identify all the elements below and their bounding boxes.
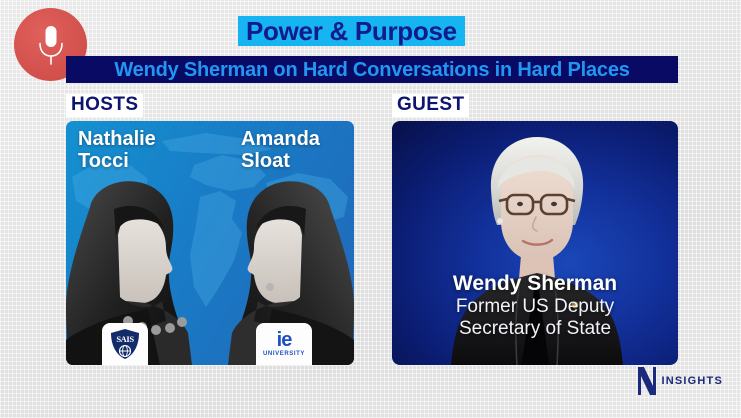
host-name-amanda-sloat: Amanda Sloat [241,129,320,172]
hosts-section-label: HOSTS [66,94,143,117]
ie-logo-subtext: UNIVERSITY [263,351,305,357]
insights-mark-icon [636,366,658,396]
sais-shield-icon: SAIS [108,327,142,361]
insights-logo-text: INSIGHTS [661,375,723,387]
episode-subtitle: Wendy Sherman on Hard Conversations in H… [114,60,629,80]
ie-university-logo: ie UNIVERSITY [256,323,312,365]
guest-card: Wendy Sherman Former US Deputy Secretary… [392,121,678,365]
svg-text:SAIS: SAIS [116,334,134,344]
guest-role: Former US Deputy Secretary of State [392,296,678,339]
sais-logo: SAIS SAIS [102,323,148,365]
show-title-bar: Power & Purpose [238,16,465,46]
page-title: Power & Purpose [246,18,457,44]
guest-section-label: GUEST [392,94,469,117]
insights-logo: INSIGHTS [636,366,723,396]
episode-subtitle-bar: Wendy Sherman on Hard Conversations in H… [66,56,678,83]
host-name-nathalie-tocci: Nathalie Tocci [78,129,156,172]
ie-logo-text: ie [277,331,292,349]
hosts-card: Nathalie Tocci Amanda Sloat [66,121,354,365]
microphone-icon [34,24,68,66]
guest-name: Wendy Sherman [392,272,678,296]
guest-caption: Wendy Sherman Former US Deputy Secretary… [392,272,678,339]
slide-canvas: Power & Purpose Wendy Sherman on Hard Co… [0,0,741,418]
